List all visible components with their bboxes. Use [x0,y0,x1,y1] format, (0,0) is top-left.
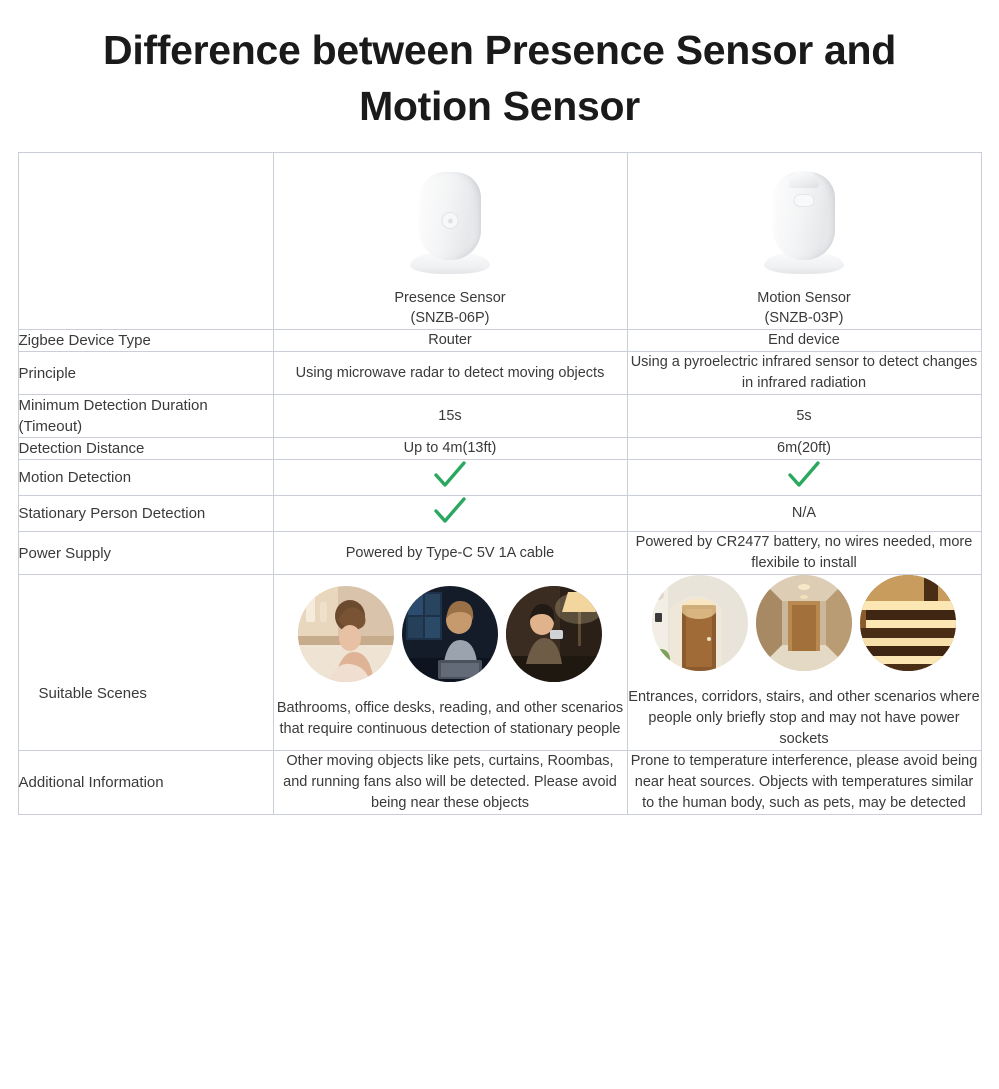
sensor-dot-icon [442,212,459,229]
device-body [419,172,481,260]
table-row-suitable-scenes: Suitable Scenes [18,575,981,751]
row-value-motion: 6m(20ft) [627,438,981,460]
comparison-table: Presence Sensor (SNZB-06P) Motion Sensor… [18,152,982,815]
row-value-motion: Using a pyroelectric infrared sensor to … [627,352,981,395]
page-title: Difference between Presence Sensor and M… [60,0,940,134]
sensor-pill-icon [794,194,815,207]
corridor-door-scene-image [756,575,852,671]
pir-lens-icon [789,171,819,188]
bathroom-scene-image [298,586,394,682]
row-value-presence: 15s [273,395,627,438]
product-model-presence: (SNZB-06P) [411,308,490,328]
table-row: Minimum Detection Duration (Timeout) 15s… [18,395,981,438]
presence-sensor-image [395,168,505,280]
product-presence-sensor: Presence Sensor (SNZB-06P) [274,154,627,328]
row-value-presence [273,496,627,532]
scene-strip-presence [274,586,627,682]
row-value-motion: End device [627,330,981,352]
row-label-cell: Suitable Scenes [18,575,273,751]
row-value-presence: Using microwave radar to detect moving o… [273,352,627,395]
row-value-presence: Up to 4m(13ft) [273,438,627,460]
header-empty-cell [18,153,273,330]
row-value-presence: Other moving objects like pets, curtains… [273,751,627,815]
row-value-presence: Powered by Type-C 5V 1A cable [273,532,627,575]
check-icon [787,460,821,495]
header-cell-motion: Motion Sensor (SNZB-03P) [627,153,981,330]
row-label: Motion Detection [18,460,273,496]
scenes-cell-presence: Bathrooms, office desks, reading, and ot… [273,575,627,751]
scene-caption-presence: Bathrooms, office desks, reading, and ot… [274,698,627,740]
row-label: Stationary Person Detection [18,496,273,532]
check-icon [433,496,467,531]
table-row: Motion Detection [18,460,981,496]
row-value-presence: Router [273,330,627,352]
lit-stairs-scene-image [860,575,956,671]
table-header-row: Presence Sensor (SNZB-06P) Motion Sensor… [18,153,981,330]
row-value-presence [273,460,627,496]
check-icon [433,460,467,495]
row-label: Additional Information [18,751,273,815]
motion-sensor-image [749,168,859,280]
product-name-motion: Motion Sensor [757,288,851,308]
row-label: Detection Distance [18,438,273,460]
table-row: Detection Distance Up to 4m(13ft) 6m(20f… [18,438,981,460]
scene-caption-motion: Entrances, corridors, stairs, and other … [628,687,981,750]
header-cell-presence: Presence Sensor (SNZB-06P) [273,153,627,330]
product-name-presence: Presence Sensor [394,288,505,308]
table-row: Power Supply Powered by Type-C 5V 1A cab… [18,532,981,575]
row-label: Minimum Detection Duration (Timeout) [18,395,273,438]
row-label: Zigbee Device Type [18,330,273,352]
row-label: Principle [18,352,273,395]
table-row: Zigbee Device Type Router End device [18,330,981,352]
row-label: Power Supply [18,532,273,575]
row-value-motion [627,460,981,496]
table-row: Principle Using microwave radar to detec… [18,352,981,395]
office-desk-scene-image [402,586,498,682]
row-value-motion: N/A [627,496,981,532]
table-row: Stationary Person Detection N/A [18,496,981,532]
row-value-motion: Prone to temperature interference, pleas… [627,751,981,815]
row-value-motion: 5s [627,395,981,438]
row-label: Suitable Scenes [19,621,273,704]
device-body [773,172,835,260]
table-row-additional-information: Additional Information Other moving obje… [18,751,981,815]
product-model-motion: (SNZB-03P) [765,308,844,328]
entrance-door-scene-image [652,575,748,671]
product-motion-sensor: Motion Sensor (SNZB-03P) [628,154,981,328]
scene-strip-motion [628,575,981,671]
row-value-motion: Powered by CR2477 battery, no wires need… [627,532,981,575]
reading-lamp-scene-image [506,586,602,682]
scenes-cell-motion: Entrances, corridors, stairs, and other … [627,575,981,751]
